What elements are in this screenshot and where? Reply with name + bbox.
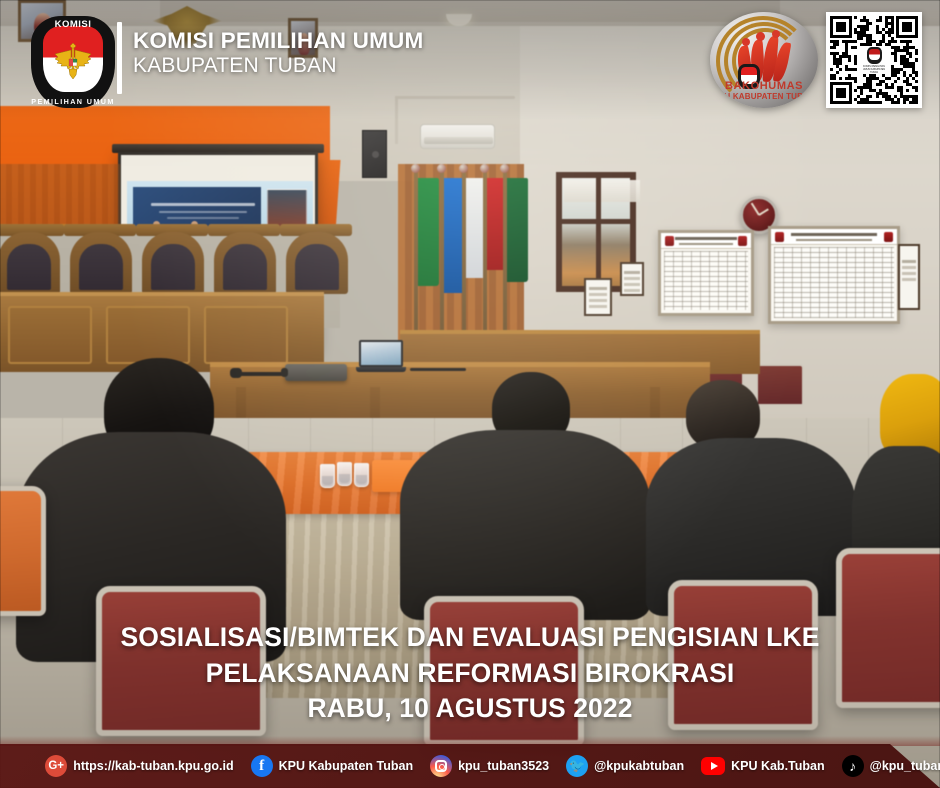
garuda-emblem-icon xyxy=(51,37,95,81)
social-label: @kpukabtuban xyxy=(594,759,684,773)
tiktok-icon[interactable]: ♪ xyxy=(842,755,864,777)
flag-pole-finial xyxy=(437,164,446,173)
social-label: kpu_tuban3523 xyxy=(458,759,549,773)
water-cup xyxy=(354,463,369,487)
twitter-icon[interactable]: 🐦 xyxy=(566,755,588,777)
chair-back-row xyxy=(756,364,804,406)
flag-pole-finial xyxy=(480,164,489,173)
qr-code[interactable]: KOMISI PEMILIHAN UMUM KABUPATEN TUBAN xyxy=(826,12,922,108)
laptop-base xyxy=(356,367,406,372)
laptop-screen xyxy=(359,340,403,367)
election-tally-chart-left xyxy=(658,230,754,316)
social-label: @kpu_tuban3523 xyxy=(870,759,940,773)
framed-certificate xyxy=(620,262,644,296)
social-link-facebook[interactable]: fKPU Kabupaten Tuban xyxy=(251,755,414,777)
social-label: KPU Kabupaten Tuban xyxy=(279,759,414,773)
av-cable xyxy=(410,368,466,371)
youtube-icon[interactable] xyxy=(701,757,725,775)
flag-pole-finial xyxy=(411,164,420,173)
party-flag-darkgreen xyxy=(507,178,528,282)
caption-block: SOSIALISASI/BIMTEK DAN EVALUASI PENGISIA… xyxy=(0,620,940,727)
caption-line-1: SOSIALISASI/BIMTEK DAN EVALUASI PENGISIA… xyxy=(0,620,940,656)
flag-pole-finial xyxy=(459,164,468,173)
window-curtain xyxy=(564,180,640,202)
social-links: G+https://kab-tuban.kpu.go.idfKPU Kabupa… xyxy=(0,744,940,788)
ornate-arch-panel xyxy=(142,232,204,294)
instagram-icon[interactable] xyxy=(430,755,452,777)
caption-line-2: PELAKSANAAN REFORMASI BIROKRASI xyxy=(0,656,940,692)
projector xyxy=(285,364,347,381)
header-text: KOMISI PEMILIHAN UMUM KABUPATEN TUBAN xyxy=(133,28,423,78)
kpu-logo: KOMISI PEMILIHAN UMUM xyxy=(31,16,115,108)
social-link-instagram[interactable]: kpu_tuban3523 xyxy=(430,755,549,777)
kpu-logo-text-bottom: PEMILIHAN UMUM xyxy=(31,97,115,106)
kpu-logo-text-top: KOMISI xyxy=(31,19,115,30)
header-divider xyxy=(117,22,122,94)
ornate-arch-panel xyxy=(0,232,60,294)
ornate-arch-panel xyxy=(70,232,132,294)
wall-speaker xyxy=(362,130,387,178)
poster-canvas: KOMISI PEMILIHAN UMUM KOMISI PEMILIHAN U… xyxy=(0,0,940,788)
flag-pole-finial xyxy=(500,164,509,173)
bakohumas-line1: BAKOHUMAS xyxy=(710,80,818,92)
qr-finder-top-right xyxy=(896,16,918,38)
chair-front xyxy=(0,486,46,616)
ornate-arch-panel xyxy=(286,232,348,294)
framed-certificate xyxy=(584,278,612,316)
air-conditioner xyxy=(420,124,495,149)
qr-finder-bottom-left xyxy=(830,82,852,104)
party-flag-green xyxy=(418,178,439,286)
qr-center-label: KOMISI PEMILIHAN UMUM KABUPATEN TUBAN xyxy=(862,65,886,74)
water-cup xyxy=(337,462,352,486)
bakohumas-line2: KPU KABUPATEN TUBAN xyxy=(710,92,818,101)
water-cup xyxy=(320,464,335,488)
bakohumas-badge: BAKOHUMAS KPU KABUPATEN TUBAN xyxy=(710,12,818,108)
social-label: https://kab-tuban.kpu.go.id xyxy=(73,759,233,773)
framed-certificate xyxy=(898,244,920,310)
election-tally-chart-right xyxy=(768,226,900,324)
av-connector xyxy=(230,368,242,378)
caption-line-3: RABU, 10 AGUSTUS 2022 xyxy=(0,691,940,727)
laptop xyxy=(356,340,406,372)
google-plus-icon[interactable]: G+ xyxy=(45,755,67,777)
social-link-google-plus[interactable]: G+https://kab-tuban.kpu.go.id xyxy=(45,755,233,777)
social-link-youtube[interactable]: KPU Kab.Tuban xyxy=(701,757,825,775)
facebook-icon[interactable]: f xyxy=(251,755,273,777)
social-link-twitter[interactable]: 🐦@kpukabtuban xyxy=(566,755,684,777)
social-link-tiktok[interactable]: ♪@kpu_tuban3523 xyxy=(842,755,940,777)
header-title: KOMISI PEMILIHAN UMUM xyxy=(133,28,423,53)
social-label: KPU Kab.Tuban xyxy=(731,759,825,773)
header-subtitle: KABUPATEN TUBAN xyxy=(133,53,423,78)
ornate-arch-panel xyxy=(214,232,276,294)
qr-center-logo: KOMISI PEMILIHAN UMUM KABUPATEN TUBAN xyxy=(862,46,886,74)
qr-finder-top-left xyxy=(830,16,852,38)
